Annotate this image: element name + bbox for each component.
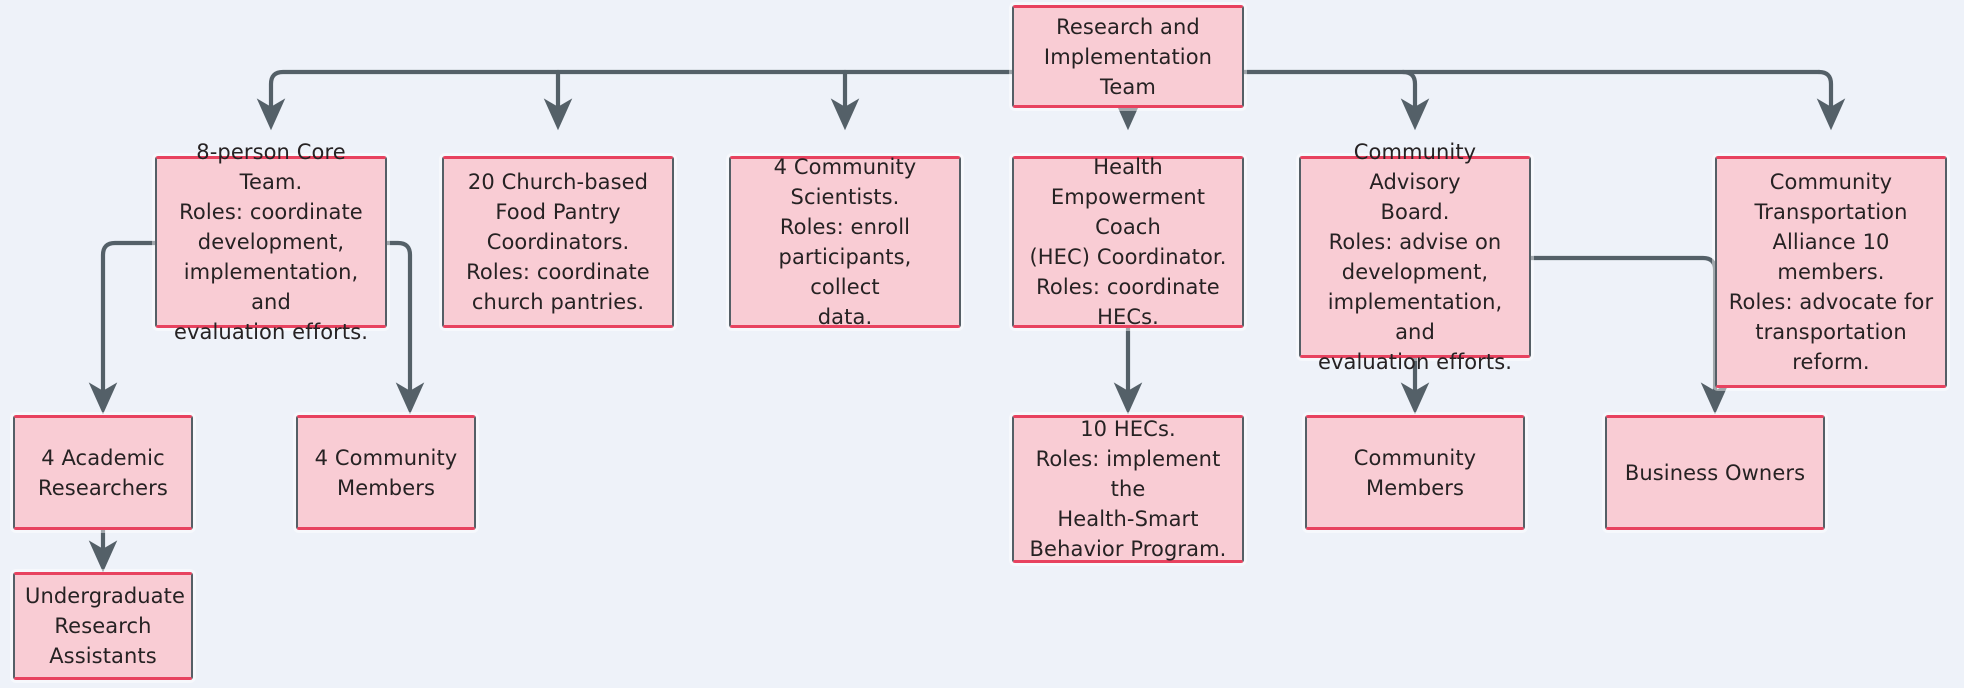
node-label: Community Members (1317, 443, 1513, 503)
node-community-advisory-board[interactable]: Community Advisory Board. Roles: advise … (1299, 156, 1531, 358)
node-label: 20 Church-based Food Pantry Coordinators… (454, 167, 662, 317)
edge-core-team-to-community-members (387, 243, 410, 400)
node-label: Health Empowerment Coach (HEC) Coordinat… (1024, 152, 1232, 332)
node-community-transportation-alliance[interactable]: Community Transportation Alliance 10 mem… (1715, 156, 1947, 388)
node-core-team[interactable]: 8-person Core Team. Roles: coordinate de… (155, 156, 387, 328)
node-label: Undergraduate Research Assistants (25, 581, 181, 671)
edge-advisory-board-to-business-owners (1531, 258, 1715, 400)
edge-root-to-core-team (271, 72, 1012, 116)
node-label: Community Advisory Board. Roles: advise … (1311, 137, 1519, 377)
node-label: 4 Academic Researchers (25, 443, 181, 503)
edge-core-team-to-academic-researchers (103, 243, 155, 400)
node-label: Community Transportation Alliance 10 mem… (1727, 167, 1935, 377)
node-research-and-implementation-team[interactable]: Research and Implementation Team (1012, 5, 1244, 108)
node-label: 8-person Core Team. Roles: coordinate de… (167, 137, 375, 347)
node-hec-coordinator[interactable]: Health Empowerment Coach (HEC) Coordinat… (1012, 156, 1244, 328)
node-label: Research and Implementation Team (1024, 12, 1232, 102)
org-chart-diagram: Research and Implementation Team 8-perso… (0, 0, 1964, 688)
node-food-pantry-coordinators[interactable]: 20 Church-based Food Pantry Coordinators… (442, 156, 674, 328)
node-undergraduate-research-assistants[interactable]: Undergraduate Research Assistants (13, 572, 193, 680)
edge-root-to-transportation-alliance (1819, 72, 1831, 116)
node-community-members-right[interactable]: Community Members (1305, 415, 1525, 530)
node-label: Business Owners (1617, 458, 1813, 488)
node-ten-hecs[interactable]: 10 HECs. Roles: implement the Health-Sma… (1012, 415, 1244, 563)
node-label: 4 Community Scientists. Roles: enroll pa… (741, 152, 949, 332)
node-academic-researchers[interactable]: 4 Academic Researchers (13, 415, 193, 530)
node-community-scientists[interactable]: 4 Community Scientists. Roles: enroll pa… (729, 156, 961, 328)
node-business-owners[interactable]: Business Owners (1605, 415, 1825, 530)
node-community-members-left[interactable]: 4 Community Members (296, 415, 476, 530)
node-label: 10 HECs. Roles: implement the Health-Sma… (1024, 414, 1232, 564)
node-label: 4 Community Members (308, 443, 464, 503)
edge-root-to-advisory-board (1403, 72, 1415, 116)
